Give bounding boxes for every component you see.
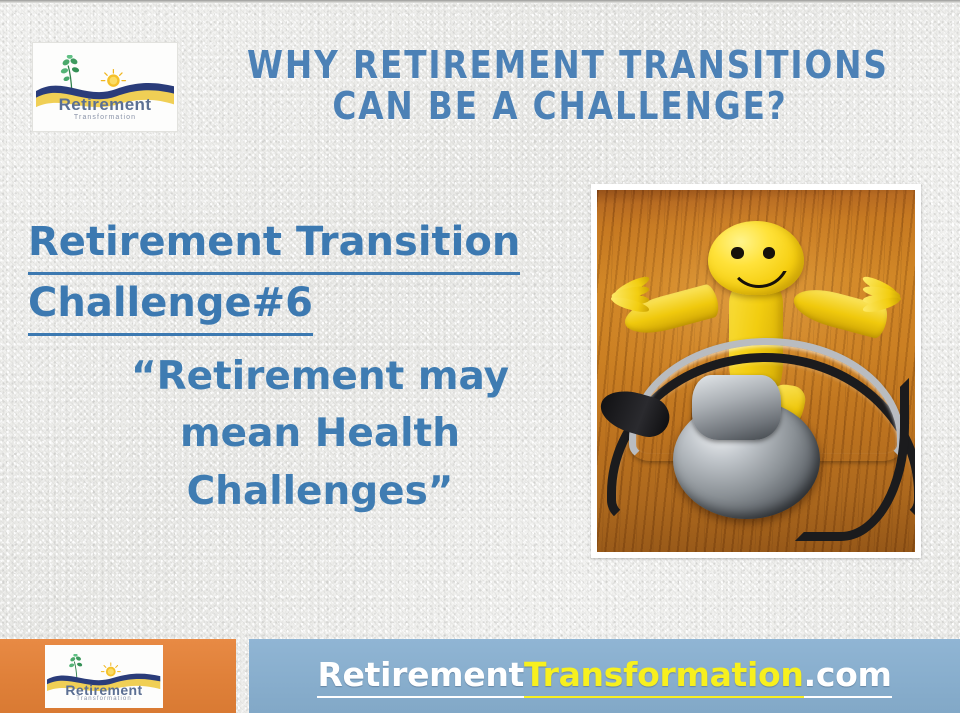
url-part-transformation: Transformation	[524, 655, 804, 698]
quote-line-3: Challenges”	[70, 463, 570, 520]
toy-head	[708, 221, 803, 295]
illustration-photo-frame	[591, 184, 921, 558]
challenge-headline: Retirement Transition Challenge#6	[28, 214, 568, 336]
quote-line-1: “Retirement may	[70, 348, 570, 405]
logo-name: Retirement	[45, 683, 163, 697]
slide-canvas: Retirement Transformation Why Retirement…	[0, 0, 960, 720]
challenge-quote: “Retirement may mean Health Challenges”	[70, 348, 570, 520]
quote-line-2: mean Health	[70, 405, 570, 462]
headline-row-1: Retirement Transition	[28, 214, 568, 275]
top-edge-line	[0, 0, 960, 3]
slide-title: Why Retirement Transitions Can Be a Chal…	[247, 45, 873, 127]
logo-name: Retirement	[33, 96, 177, 113]
logo-subtitle: Transformation	[45, 696, 163, 702]
bottom-white-strip	[0, 713, 960, 720]
title-line-1: Why Retirement Transitions	[247, 45, 873, 86]
website-url[interactable]: RetirementTransformation.com	[249, 639, 960, 713]
url-part-retirement: Retirement	[317, 655, 524, 698]
footer-brand-logo: Retirement Transformation	[45, 645, 163, 708]
stethoscope-hub	[692, 375, 781, 440]
logo-subtitle: Transformation	[33, 114, 177, 121]
toy-hand-right	[858, 270, 899, 324]
toy-hand-left	[613, 270, 654, 324]
url-part-tld: .com	[804, 655, 892, 698]
header-brand-logo: Retirement Transformation	[32, 42, 178, 132]
headline-line-2: Challenge#6	[28, 275, 313, 336]
headline-row-2: Challenge#6	[28, 275, 568, 336]
headline-line-1: Retirement Transition	[28, 214, 520, 275]
toy-smile	[728, 256, 789, 287]
title-line-2: Can Be a Challenge?	[247, 86, 873, 127]
smiley-stethoscope-photo	[597, 190, 915, 552]
